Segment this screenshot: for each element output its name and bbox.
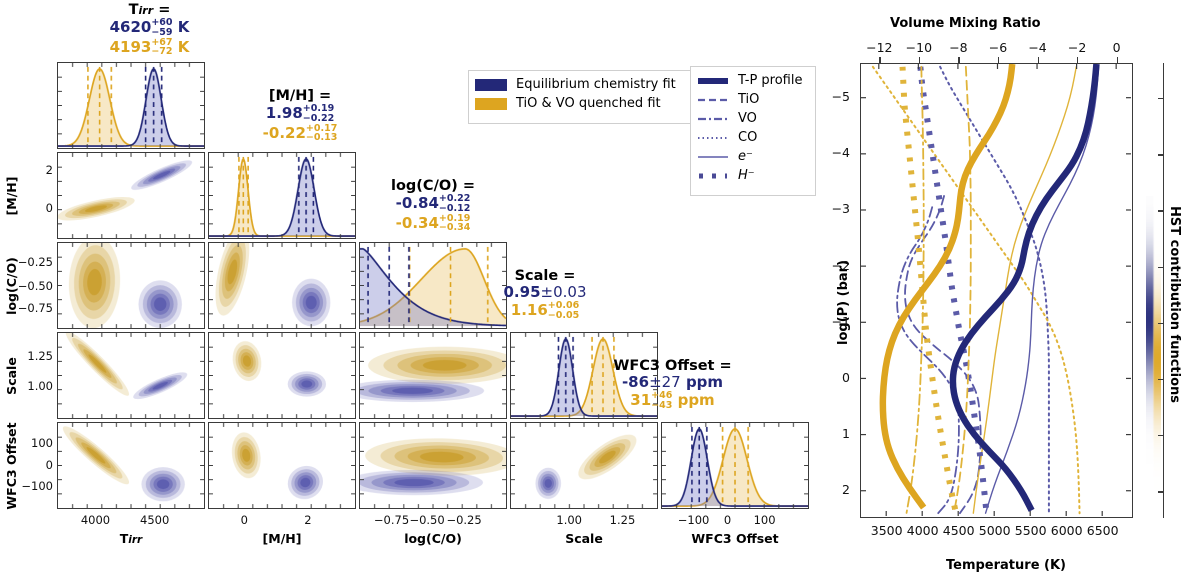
equilibrium-swatch	[475, 79, 507, 91]
legend-fits: Equilibrium chemistry fit TiO & VO quenc…	[468, 70, 694, 124]
stat-wfc3-header: WFC3 Offset =	[565, 358, 780, 374]
axis-label-mh: [M/H]	[263, 531, 302, 546]
axis-label-tirr: Tirr	[120, 531, 143, 546]
vmr-tick-mark	[958, 57, 959, 63]
legend-label-vo: VO	[738, 111, 757, 126]
axis-label-y-scale: Scale	[4, 357, 19, 395]
legend-label-electron: e⁻	[738, 149, 753, 164]
vmr-tick: −12	[866, 40, 892, 55]
axis-label-co: log(C/O)	[404, 531, 462, 546]
ytick-mh-0: 2	[8, 163, 53, 177]
quenched-swatch	[475, 98, 507, 110]
pressure-tick: 2	[842, 482, 850, 497]
legend-item-tio: TiO	[697, 90, 809, 109]
xtick-wfc3-1: 0	[724, 513, 731, 527]
temperature-tick: 6500	[1087, 523, 1119, 538]
stat-wfc3: WFC3 Offset = -86±27 ppm 31+46−43 ppm	[565, 358, 780, 410]
colorbar-label: HST contribution functions	[1167, 206, 1182, 403]
vmr-tick-mark	[879, 57, 880, 63]
legend-label-equilibrium: Equilibrium chemistry fit	[516, 77, 676, 92]
axis-label-wfc3: WFC3 Offset	[691, 531, 778, 546]
colorbar-tick	[1158, 210, 1164, 211]
stat-co-value1: -0.84+0.22−0.12	[338, 194, 528, 213]
temperature-tick: 6000	[1051, 523, 1083, 538]
stat-scale-header: Scale =	[450, 268, 640, 284]
colorbar-tick	[1158, 98, 1164, 99]
xtick-co-1: −0.50	[409, 513, 444, 527]
legend-label-hminus: H⁻	[738, 168, 755, 183]
xtick-wfc3-2: 100	[754, 513, 776, 527]
stat-tirr-value1: 4620+60−59 K	[62, 18, 237, 37]
colorbar-tick	[1158, 154, 1164, 155]
dotted-line-icon	[697, 132, 729, 144]
temperature-tick: 3500	[871, 523, 903, 538]
stat-mh: [M/H] = 1.98+0.19−0.22 -0.22+0.17−0.13	[210, 88, 390, 143]
temperature-axis-label: Temperature (K)	[946, 558, 1066, 573]
colorbar-tick	[1158, 435, 1164, 436]
legend-label-co: CO	[738, 130, 757, 145]
legend-item-tp-profile: T-P profile	[697, 71, 809, 90]
pressure-tick: −2	[832, 258, 850, 273]
figure-root: Tirr = 4620+60−59 K 4193+67−72 K [M/H] =…	[0, 0, 1200, 582]
stat-mh-value1: 1.98+0.19−0.22	[210, 104, 390, 123]
stat-co-header: log(C/O) =	[338, 178, 528, 194]
hst-contribution-colorbar	[1146, 196, 1161, 496]
xtick-mh-1: 2	[304, 513, 311, 527]
xtick-mh-0: 0	[241, 513, 248, 527]
legend-species: T-P profile TiO VO CO e⁻ H⁻	[690, 66, 816, 196]
xtick-co-0: −0.75	[374, 513, 409, 527]
axis-label-scale: Scale	[565, 531, 603, 546]
pressure-tick: −4	[832, 145, 850, 160]
vmr-tick: −6	[989, 40, 1007, 55]
pressure-tick: −3	[832, 201, 850, 216]
stat-scale: Scale = 0.95±0.03 1.16+0.06−0.05	[450, 268, 640, 320]
legend-item-electron: e⁻	[697, 147, 809, 166]
vmr-tick-mark	[1077, 57, 1078, 63]
tp-profile-canvas	[861, 64, 1131, 516]
legend-item-co: CO	[697, 128, 809, 147]
xtick-scale-0: 1.00	[556, 513, 582, 527]
xtick-tirr-0: 4000	[81, 513, 110, 527]
pressure-axis-label: log(P) (bar)	[836, 260, 851, 345]
legend-item-vo: VO	[697, 109, 809, 128]
vmr-tick: −8	[949, 40, 967, 55]
vmr-axis-label: Volume Mixing Ratio	[890, 16, 1041, 31]
xtick-wfc3-0: −100	[678, 513, 710, 527]
vmr-tick-mark	[1117, 57, 1118, 63]
tp-profile-panel	[860, 63, 1133, 518]
stat-co-value2: -0.34+0.19−0.34	[338, 214, 528, 233]
axis-label-y-co: log(C/O)	[4, 257, 19, 315]
pressure-tick: 0	[842, 370, 850, 385]
xtick-scale-1: 1.25	[610, 513, 636, 527]
temperature-tick: 5000	[979, 523, 1011, 538]
legend-item-quenched: TiO & VO quenched fit	[475, 94, 687, 113]
vmr-tick-mark	[919, 57, 920, 63]
xtick-tirr-1: 4500	[140, 513, 169, 527]
dashed-line-icon	[697, 94, 729, 106]
stat-scale-value1: 0.95±0.03	[450, 284, 640, 301]
vmr-tick: −2	[1068, 40, 1086, 55]
legend-item-equilibrium: Equilibrium chemistry fit	[475, 75, 687, 94]
tp-profile-line-icon	[697, 75, 729, 87]
temperature-tick: 5500	[1015, 523, 1047, 538]
dashdot-line-icon	[697, 113, 729, 125]
vmr-tick: −4	[1028, 40, 1046, 55]
axis-label-y-wfc3: WFC3 Offset	[4, 422, 19, 509]
stat-co: log(C/O) = -0.84+0.22−0.12 -0.34+0.19−0.…	[338, 178, 528, 233]
temperature-tick: 4000	[907, 523, 939, 538]
stat-wfc3-value2: 31+46−43 ppm	[565, 391, 780, 410]
stat-mh-header: [M/H] =	[210, 88, 390, 104]
pressure-tick: −1	[832, 314, 850, 329]
stat-tirr-header: Tirr =	[62, 2, 237, 18]
colorbar-tick	[1158, 491, 1164, 492]
legend-label-quenched: TiO & VO quenched fit	[516, 96, 661, 111]
stat-tirr: Tirr = 4620+60−59 K 4193+67−72 K	[62, 2, 237, 57]
colorbar-axis	[1163, 63, 1164, 518]
stat-mh-value2: -0.22+0.17−0.13	[210, 124, 390, 143]
stat-wfc3-value1: -86±27 ppm	[565, 374, 780, 391]
vmr-tick: −10	[906, 40, 932, 55]
vmr-tick-mark	[1038, 57, 1039, 63]
stat-scale-value2: 1.16+0.06−0.05	[450, 301, 640, 320]
pressure-tick: −5	[832, 89, 850, 104]
vmr-tick-mark	[998, 57, 999, 63]
vmr-tick: 0	[1113, 40, 1121, 55]
legend-label-tp-profile: T-P profile	[738, 73, 802, 88]
legend-item-hminus: H⁻	[697, 166, 809, 185]
stat-tirr-value2: 4193+67−72 K	[62, 38, 237, 57]
colorbar-tick	[1158, 379, 1164, 380]
xtick-co-2: −0.25	[446, 513, 481, 527]
thin-line-icon	[697, 151, 729, 163]
temperature-tick: 4500	[943, 523, 975, 538]
colorbar-tick	[1158, 267, 1164, 268]
axis-label-y-mh: [M/H]	[4, 176, 19, 215]
pressure-tick: 1	[842, 426, 850, 441]
legend-label-tio: TiO	[738, 92, 759, 107]
thick-dotted-line-icon	[697, 170, 729, 182]
colorbar-tick	[1158, 323, 1164, 324]
